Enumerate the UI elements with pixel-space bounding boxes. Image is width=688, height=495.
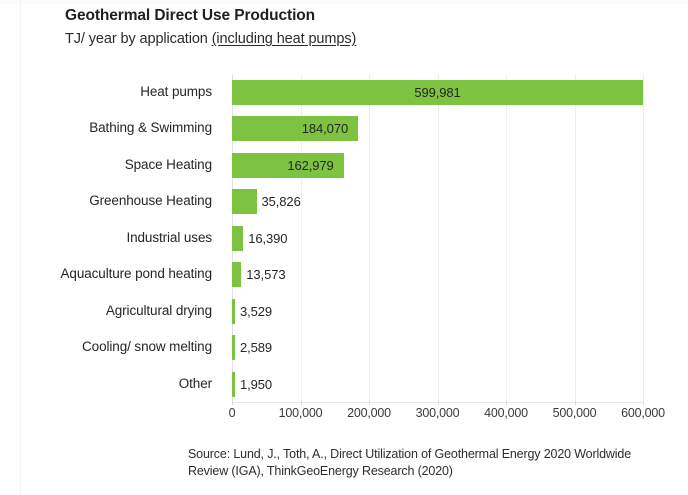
category-label: Other bbox=[0, 366, 222, 402]
bar[interactable] bbox=[232, 262, 241, 287]
category-label: Greenhouse Heating bbox=[0, 183, 222, 219]
bar-row[interactable]: 184,070 bbox=[232, 110, 643, 146]
bar-value-label: 16,390 bbox=[248, 226, 287, 251]
category-label: Cooling/ snow melting bbox=[0, 329, 222, 365]
gridline bbox=[643, 74, 644, 402]
bar-row[interactable]: 3,529 bbox=[232, 293, 643, 329]
x-axis-tick-label: 400,000 bbox=[484, 406, 528, 420]
x-axis-tick-mark bbox=[438, 401, 439, 405]
chart-subtitle-underlined: (including heat pumps) bbox=[212, 31, 357, 47]
bar-row[interactable]: 1,950 bbox=[232, 366, 643, 402]
x-axis-tick-labels: 0100,000200,000300,000400,000500,000600,… bbox=[232, 406, 643, 426]
bar[interactable] bbox=[232, 189, 257, 214]
bar-value-label: 13,573 bbox=[246, 262, 285, 287]
bar[interactable] bbox=[232, 299, 235, 324]
x-axis-tick-label: 500,000 bbox=[553, 406, 597, 420]
bar-row[interactable]: 35,826 bbox=[232, 183, 643, 219]
category-label: Industrial uses bbox=[0, 220, 222, 256]
chart-subtitle: TJ/ year by application (including heat … bbox=[65, 31, 356, 47]
geothermal-direct-use-bar-chart: Geothermal Direct Use Production TJ/ yea… bbox=[0, 0, 688, 495]
source-note: Source: Lund, J., Toth, A., Direct Utili… bbox=[188, 446, 668, 480]
category-axis-labels: Heat pumpsBathing & SwimmingSpace Heatin… bbox=[0, 74, 222, 402]
bar[interactable] bbox=[232, 372, 235, 397]
bar[interactable] bbox=[232, 226, 243, 251]
bar[interactable] bbox=[232, 335, 235, 360]
category-label: Agricultural drying bbox=[0, 293, 222, 329]
x-axis-tick-mark bbox=[506, 401, 507, 405]
x-axis-tick-label: 300,000 bbox=[416, 406, 460, 420]
chart-subtitle-prefix: TJ/ year by application bbox=[65, 31, 212, 47]
bar-row[interactable]: 13,573 bbox=[232, 256, 643, 292]
bar-value-label: 162,979 bbox=[232, 153, 334, 178]
x-axis-tick-mark bbox=[232, 401, 233, 405]
category-label: Bathing & Swimming bbox=[0, 110, 222, 146]
bar-value-label: 599,981 bbox=[232, 80, 643, 105]
bar-value-label: 35,826 bbox=[262, 189, 301, 214]
x-axis-tick-mark bbox=[369, 401, 370, 405]
chart-title: Geothermal Direct Use Production bbox=[65, 7, 315, 25]
x-axis-tick-mark bbox=[301, 401, 302, 405]
x-axis-tick-label: 600,000 bbox=[621, 406, 665, 420]
plot-area: 599,981184,070162,97935,82616,39013,5733… bbox=[232, 74, 643, 402]
category-label: Heat pumps bbox=[0, 74, 222, 110]
x-axis-tick-label: 100,000 bbox=[279, 406, 323, 420]
x-axis-tick-mark bbox=[643, 401, 644, 405]
bar-row[interactable]: 162,979 bbox=[232, 147, 643, 183]
bar-row[interactable]: 16,390 bbox=[232, 220, 643, 256]
bar-row[interactable]: 599,981 bbox=[232, 74, 643, 110]
x-axis-tick-label: 0 bbox=[229, 406, 236, 420]
bar-value-label: 2,589 bbox=[240, 335, 272, 360]
category-label: Aquaculture pond heating bbox=[0, 256, 222, 292]
bar-row[interactable]: 2,589 bbox=[232, 329, 643, 365]
x-axis-tick-mark bbox=[575, 401, 576, 405]
bar-rows: 599,981184,070162,97935,82616,39013,5733… bbox=[232, 74, 643, 402]
bar-value-label: 184,070 bbox=[232, 116, 348, 141]
category-label: Space Heating bbox=[0, 147, 222, 183]
x-axis-tick-label: 200,000 bbox=[347, 406, 391, 420]
bar-value-label: 1,950 bbox=[240, 372, 272, 397]
bar-value-label: 3,529 bbox=[240, 299, 272, 324]
